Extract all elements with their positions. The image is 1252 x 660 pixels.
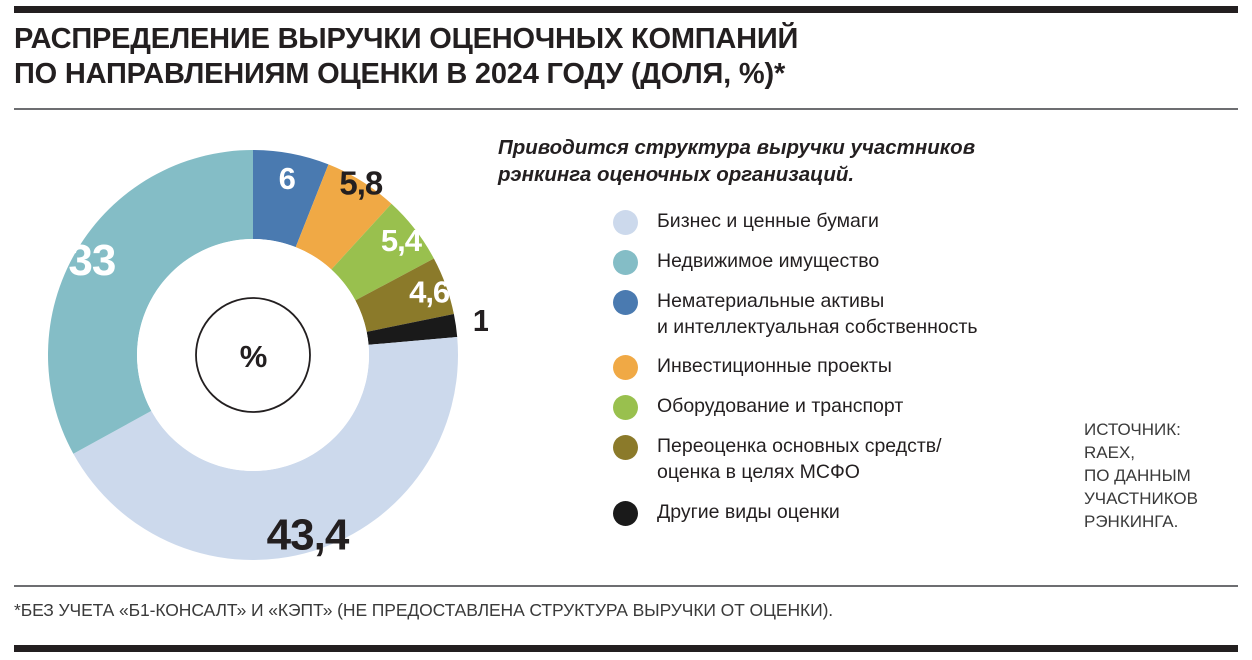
footnote-divider bbox=[14, 585, 1238, 587]
legend-label-line-1: Переоценка основных средств/ bbox=[657, 433, 942, 459]
legend-item-revaluation-ifrs[interactable]: Переоценка основных средств/ оценка в це… bbox=[613, 433, 1083, 485]
donut-slice-value-label: 4,6 bbox=[409, 274, 450, 309]
donut-slice-value-label: 1,8 bbox=[473, 303, 488, 338]
legend-swatch-icon bbox=[613, 355, 638, 380]
legend-item-label: Недвижимое имущество bbox=[657, 248, 879, 274]
source-line-1: ИСТОЧНИК: bbox=[1084, 418, 1252, 441]
legend-swatch-icon bbox=[613, 435, 638, 460]
donut-slice-value-label: 33 bbox=[68, 236, 115, 285]
legend-label-line-1: Нематериальные активы bbox=[657, 288, 978, 314]
intro-text: Приводится структура выручки участников … bbox=[498, 134, 1058, 188]
intro-line-2: рэнкинга оценочных организаций. bbox=[498, 161, 1058, 188]
legend-swatch-icon bbox=[613, 395, 638, 420]
legend-item-equipment-transport[interactable]: Оборудование и транспорт bbox=[613, 393, 1083, 420]
legend-label-line-1: Другие виды оценки bbox=[657, 499, 840, 525]
source-attribution: ИСТОЧНИК: RAEX, ПО ДАННЫМ УЧАСТНИКОВ РЭН… bbox=[1084, 418, 1252, 534]
donut-slice-value-label: 43,4 bbox=[267, 510, 350, 559]
page-title: РАСПРЕДЕЛЕНИЕ ВЫРУЧКИ ОЦЕНОЧНЫХ КОМПАНИЙ… bbox=[14, 22, 1014, 93]
legend-label-line-1: Недвижимое имущество bbox=[657, 248, 879, 274]
legend-label-line-2: оценка в целях МСФО bbox=[657, 459, 942, 485]
chart-legend: Бизнес и ценные бумаги Недвижимое имущес… bbox=[613, 208, 1083, 526]
legend-label-line-1: Инвестиционные проекты bbox=[657, 353, 892, 379]
top-rule bbox=[14, 6, 1238, 13]
infographic-root: РАСПРЕДЕЛЕНИЕ ВЫРУЧКИ ОЦЕНОЧНЫХ КОМПАНИЙ… bbox=[0, 0, 1252, 660]
legend-item-label: Инвестиционные проекты bbox=[657, 353, 892, 379]
source-line-3: ПО ДАННЫМ bbox=[1084, 464, 1252, 487]
title-divider bbox=[14, 108, 1238, 110]
legend-item-investment-projects[interactable]: Инвестиционные проекты bbox=[613, 353, 1083, 380]
donut-chart-svg: % 65,85,44,61,843,433 bbox=[18, 124, 488, 586]
donut-chart: % 65,85,44,61,843,433 bbox=[18, 124, 488, 586]
legend-item-business-securities[interactable]: Бизнес и ценные бумаги bbox=[613, 208, 1083, 235]
legend-swatch-icon bbox=[613, 210, 638, 235]
legend-item-label: Оборудование и транспорт bbox=[657, 393, 903, 419]
legend-swatch-icon bbox=[613, 501, 638, 526]
legend-item-other-valuation[interactable]: Другие виды оценки bbox=[613, 499, 1083, 526]
donut-center-percent-symbol: % bbox=[240, 339, 267, 374]
legend-item-label: Нематериальные активы и интеллектуальная… bbox=[657, 288, 978, 340]
legend-label-line-1: Оборудование и транспорт bbox=[657, 393, 903, 419]
legend-item-real-estate[interactable]: Недвижимое имущество bbox=[613, 248, 1083, 275]
source-line-2: RAEX, bbox=[1084, 441, 1252, 464]
title-line-1: РАСПРЕДЕЛЕНИЕ ВЫРУЧКИ ОЦЕНОЧНЫХ КОМПАНИЙ bbox=[14, 22, 1014, 57]
legend-swatch-icon bbox=[613, 290, 638, 315]
donut-slice-value-label: 5,4 bbox=[381, 223, 423, 258]
legend-swatch-icon bbox=[613, 250, 638, 275]
legend-item-intangible-assets[interactable]: Нематериальные активы и интеллектуальная… bbox=[613, 288, 1083, 340]
legend-item-label: Бизнес и ценные бумаги bbox=[657, 208, 879, 234]
donut-slice-value-label: 6 bbox=[279, 161, 296, 196]
legend-label-line-1: Бизнес и ценные бумаги bbox=[657, 208, 879, 234]
source-line-4: УЧАСТНИКОВ bbox=[1084, 487, 1252, 510]
legend-item-label: Переоценка основных средств/ оценка в це… bbox=[657, 433, 942, 485]
source-line-5: РЭНКИНГА. bbox=[1084, 510, 1252, 533]
bottom-rule bbox=[14, 645, 1238, 652]
footnote-text: *БЕЗ УЧЕТА «Б1-КОНСАЛТ» И «КЭПТ» (НЕ ПРЕ… bbox=[14, 600, 833, 621]
intro-line-1: Приводится структура выручки участников bbox=[498, 134, 1058, 161]
legend-label-line-2: и интеллектуальная собственность bbox=[657, 314, 978, 340]
legend-item-label: Другие виды оценки bbox=[657, 499, 840, 525]
donut-slice-value-label: 5,8 bbox=[339, 164, 383, 201]
title-line-2: ПО НАПРАВЛЕНИЯМ ОЦЕНКИ В 2024 ГОДУ (ДОЛЯ… bbox=[14, 57, 1014, 92]
